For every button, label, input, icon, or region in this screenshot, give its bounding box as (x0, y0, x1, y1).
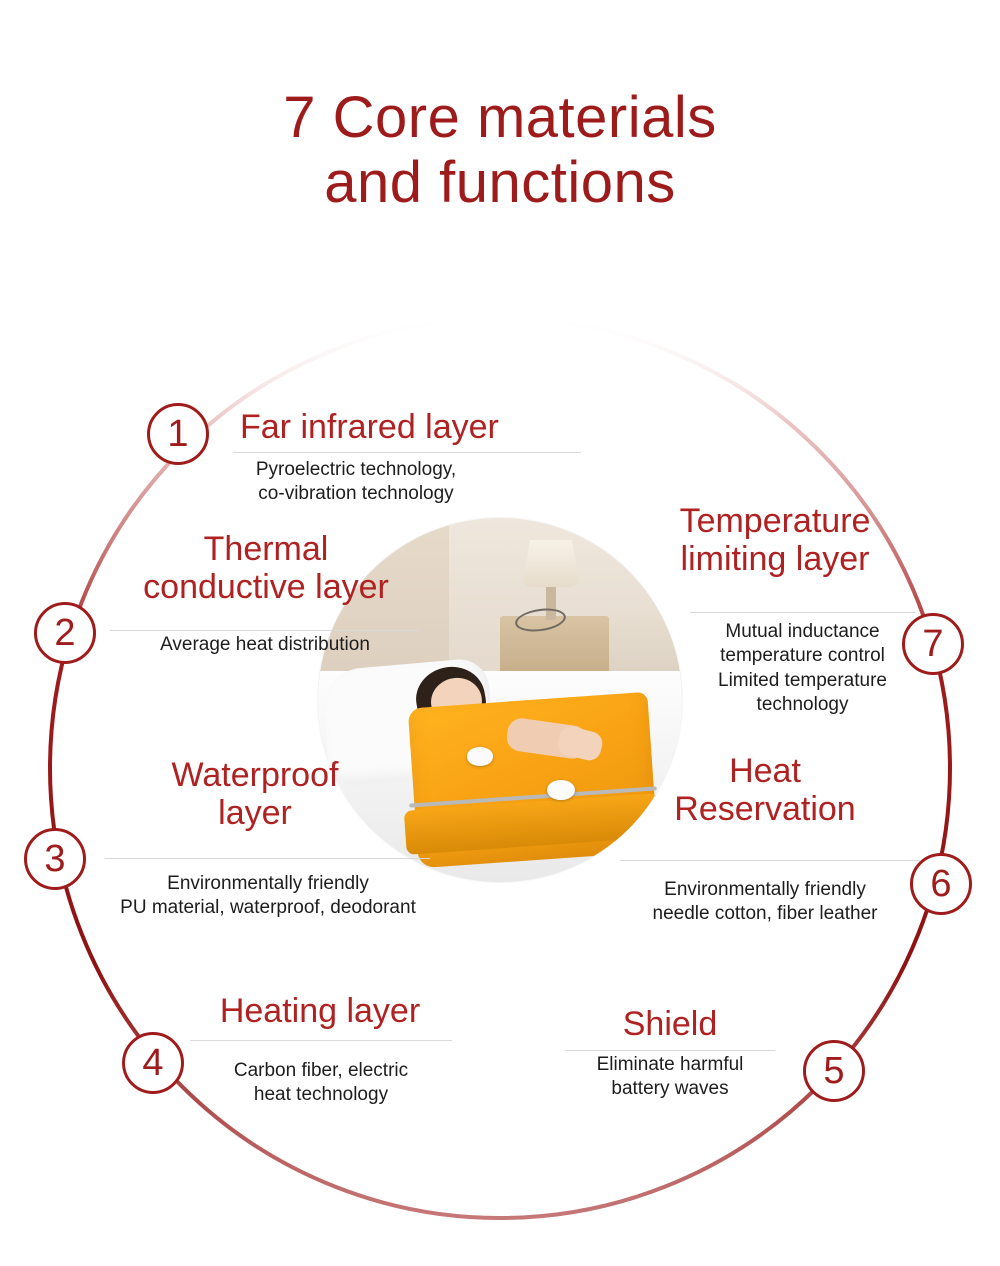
badge-number-5: 5 (803, 1040, 865, 1102)
badge-number-3: 3 (24, 828, 86, 890)
badge-number-7: 7 (902, 613, 964, 675)
badge-number-1: 1 (147, 403, 209, 465)
item-7-sub-line-4: technology (757, 694, 849, 715)
photo-blanket-button-2 (547, 780, 574, 800)
item-3-title-line-2: layer (218, 794, 292, 832)
item-4-sub-line-1: Carbon fiber, electric (234, 1060, 408, 1081)
item-6-title: Heat Reservation (600, 752, 930, 829)
item-7-sub-line-3: Limited temperature (718, 670, 887, 691)
item-3-subtitle: Environmentally friendly PU material, wa… (88, 872, 448, 921)
badge-number-6: 6 (910, 853, 972, 915)
item-7-title-line-2: limiting layer (681, 540, 870, 578)
item-4-title: Heating layer (180, 992, 460, 1030)
item-5-title: Shield (560, 1005, 780, 1043)
item-1-title: Far infrared layer (240, 408, 640, 446)
item-6-title-line-1: Heat (729, 752, 801, 790)
item-7-sub-line-2: temperature control (720, 645, 885, 666)
item-3-sub-line-2: PU material, waterproof, deodorant (120, 897, 416, 918)
badge-number-4: 4 (122, 1032, 184, 1094)
item-4-divider (190, 1040, 452, 1041)
item-5-sub-line-2: battery waves (611, 1078, 728, 1099)
item-3-title-line-1: Waterproof (172, 756, 339, 794)
item-4-subtitle: Carbon fiber, electric heat technology (190, 1059, 452, 1108)
photo-lamp-shade (522, 540, 580, 587)
item-5-sub-line-1: Eliminate harmful (597, 1054, 744, 1075)
item-5-divider (565, 1050, 775, 1051)
item-2-divider (110, 630, 420, 631)
title-line-1: 7 Core materials (0, 86, 1000, 151)
item-7-sub-line-1: Mutual inductance (725, 621, 879, 642)
item-3-title: Waterproof layer (90, 756, 420, 833)
item-6-sub-line-2: needle cotton, fiber leather (653, 903, 878, 924)
page-title: 7 Core materials and functions (0, 86, 1000, 216)
photo-blanket-button-1 (467, 747, 492, 765)
item-7-divider (690, 612, 915, 613)
item-6-sub-line-1: Environmentally friendly (664, 879, 866, 900)
item-1-divider (233, 452, 581, 453)
title-line-2: and functions (0, 151, 1000, 216)
item-2-title-line-2: conductive layer (143, 568, 389, 606)
item-7-title: Temperature limiting layer (610, 502, 940, 579)
item-2-subtitle: Average heat distribution (100, 633, 430, 657)
item-7-title-line-1: Temperature (680, 502, 871, 540)
item-2-sub-line-1: Average heat distribution (160, 634, 370, 655)
item-1-sub-line-1: Pyroelectric technology, (256, 459, 456, 480)
item-3-sub-line-1: Environmentally friendly (167, 873, 369, 894)
item-7-subtitle: Mutual inductance temperature control Li… (690, 620, 915, 717)
item-6-subtitle: Environmentally friendly needle cotton, … (600, 878, 930, 927)
item-6-title-line-2: Reservation (674, 790, 855, 828)
item-5-subtitle: Eliminate harmful battery waves (560, 1053, 780, 1102)
item-3-divider (105, 858, 430, 859)
badge-number-2: 2 (34, 602, 96, 664)
item-4-sub-line-2: heat technology (254, 1084, 388, 1105)
item-1-sub-line-2: co-vibration technology (258, 483, 453, 504)
item-2-title: Thermal conductive layer (96, 530, 436, 607)
item-6-divider (620, 860, 920, 861)
item-1-subtitle: Pyroelectric technology, co-vibration te… (231, 458, 481, 507)
item-2-title-line-1: Thermal (204, 530, 329, 568)
